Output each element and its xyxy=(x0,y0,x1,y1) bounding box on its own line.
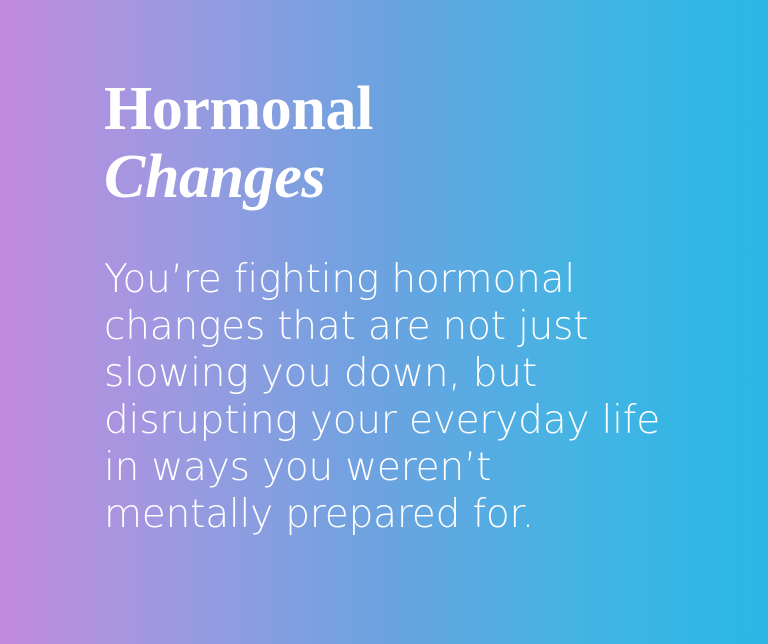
body-copy-line: in ways you weren’t xyxy=(104,444,728,491)
body-copy-line: slowing you down, but xyxy=(104,350,728,397)
body-copy: You’re fighting hormonal changes that ar… xyxy=(104,256,728,538)
headline: Hormonal Changes xyxy=(104,78,728,212)
content-stack: Hormonal Changes You’re fighting hormona… xyxy=(104,78,728,538)
body-copy-line: disrupting your everyday life xyxy=(104,397,728,444)
body-copy-line: changes that are not just xyxy=(104,303,728,350)
quote-graphic-card: Hormonal Changes You’re fighting hormona… xyxy=(0,0,768,644)
headline-line-primary: Hormonal xyxy=(104,78,728,144)
headline-line-emphasis: Changes xyxy=(104,146,728,212)
body-copy-line: mentally prepared for. xyxy=(104,491,728,538)
body-copy-line: You’re fighting hormonal xyxy=(104,256,728,303)
